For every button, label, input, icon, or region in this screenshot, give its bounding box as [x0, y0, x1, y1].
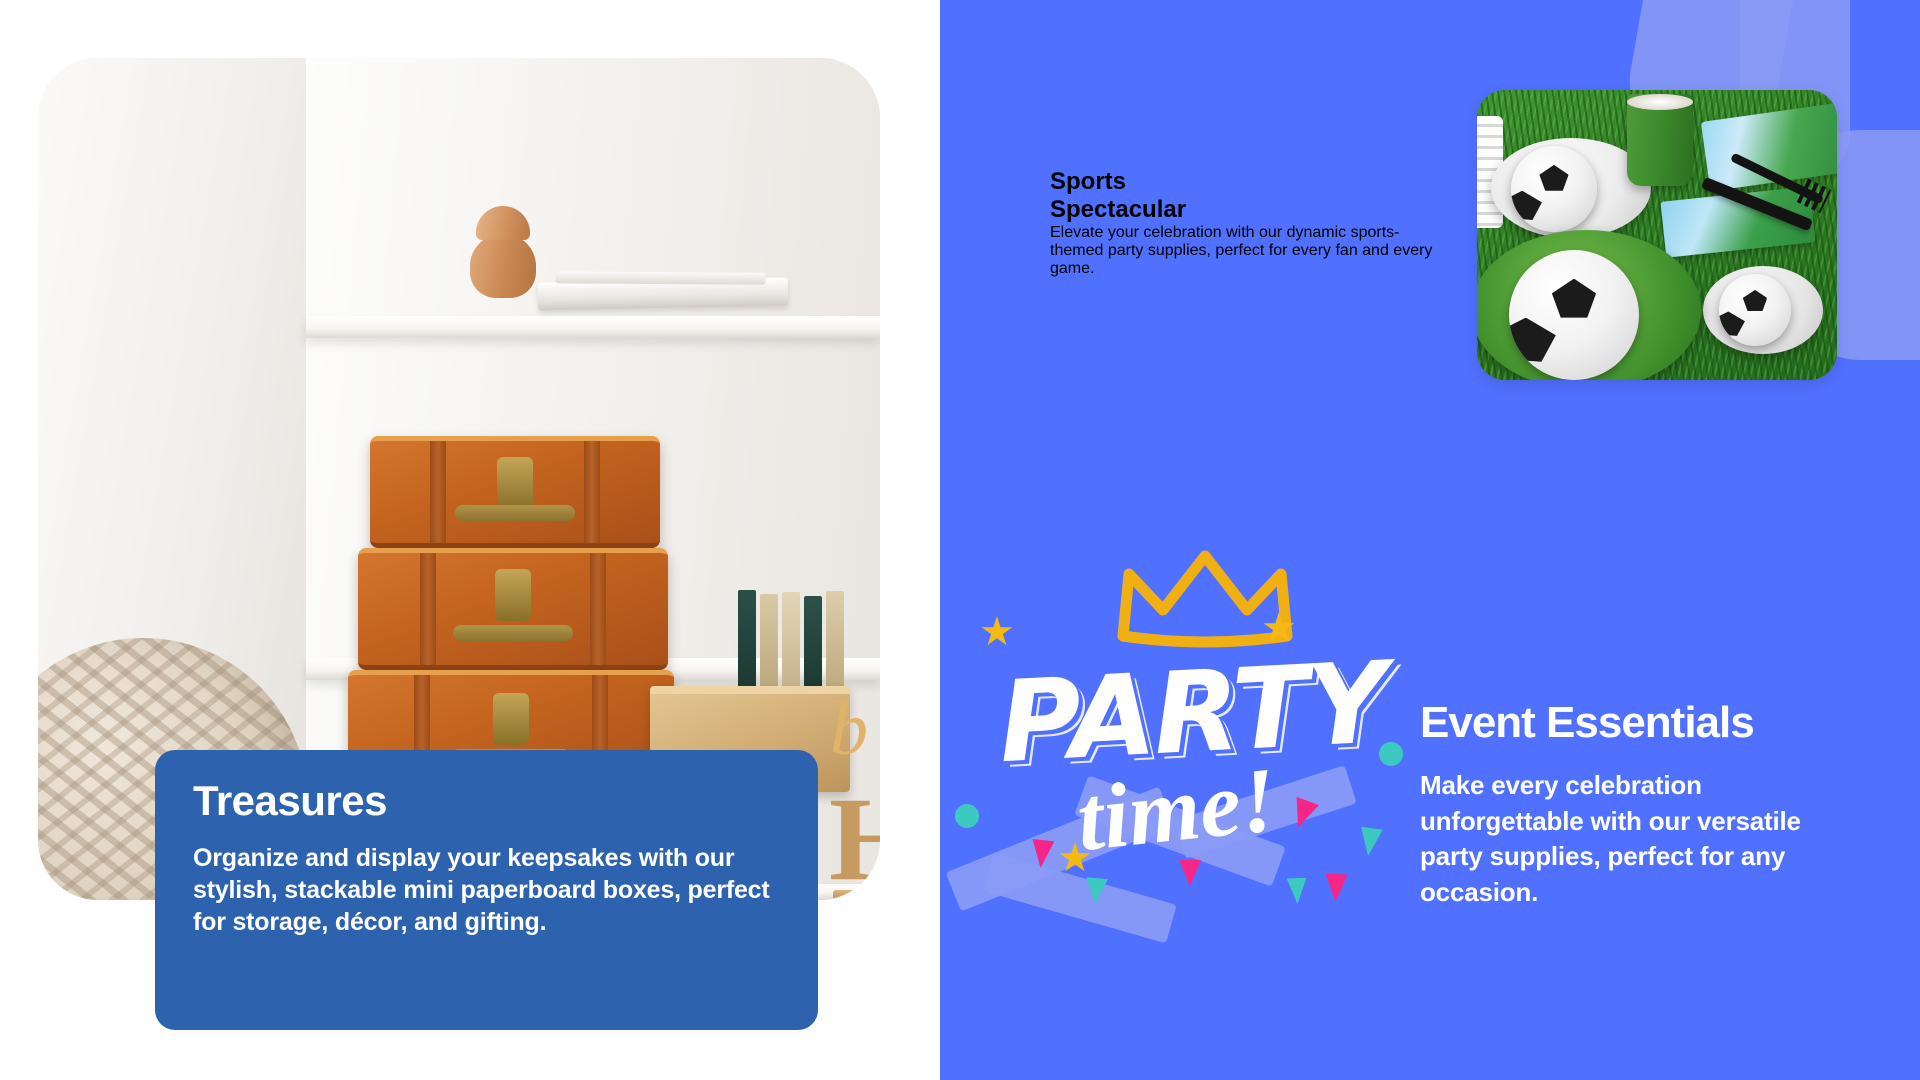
- sports-title-line1: Sports: [1050, 168, 1126, 195]
- sports-supplies-photo: [1477, 90, 1837, 380]
- photo-wooden-letters: HA: [833, 730, 880, 900]
- soccer-ball-icon: [1509, 250, 1639, 380]
- photo-storage-case: [370, 436, 660, 548]
- photo-paper-plate: [1477, 230, 1701, 380]
- confetti-star: ★: [1057, 838, 1093, 878]
- confetti-triangle: [1357, 827, 1383, 858]
- slide-canvas: b HA Treasures Organize and display your…: [0, 0, 1920, 1080]
- confetti-triangle: [1287, 878, 1308, 905]
- right-panel: Sports Spectacular Elevate your celebrat…: [940, 0, 1920, 1080]
- sports-text-block: Sports Spectacular Elevate your celebrat…: [1050, 168, 1450, 278]
- photo-paper-cup: [1627, 94, 1693, 186]
- event-text-block: Event Essentials Make every celebration …: [1420, 700, 1850, 911]
- event-body: Make every celebration unforgettable wit…: [1420, 768, 1850, 910]
- photo-magazines: [538, 277, 789, 310]
- photo-storage-case: [358, 548, 668, 670]
- confetti-dot: [1379, 742, 1403, 766]
- confetti-star: ★: [979, 612, 1015, 652]
- confetti-dot: [955, 804, 979, 828]
- photo-paper-plate: [1703, 266, 1823, 354]
- photo-wooden-pot: [470, 206, 536, 298]
- sports-title-line2: Spectacular: [1050, 196, 1186, 223]
- sports-title: Sports Spectacular: [1050, 168, 1450, 224]
- treasures-title: Treasures: [193, 780, 780, 822]
- party-time-logo: PARTY time! ★ ★ ★: [965, 560, 1445, 960]
- confetti-triangle: [1179, 860, 1201, 886]
- left-panel: b HA Treasures Organize and display your…: [0, 0, 940, 1080]
- treasures-body: Organize and display your keepsakes with…: [193, 842, 780, 938]
- time-word: time!: [1072, 746, 1281, 872]
- photo-shelf-board: [306, 316, 880, 338]
- event-title: Event Essentials: [1420, 700, 1850, 746]
- confetti-star: ★: [1261, 608, 1297, 648]
- treasures-card: Treasures Organize and display your keep…: [155, 750, 818, 1030]
- soccer-ball-icon: [1719, 274, 1791, 346]
- confetti-triangle: [1325, 874, 1348, 903]
- sports-body: Elevate your celebration with our dynami…: [1050, 224, 1450, 278]
- photo-books-upper: [738, 588, 868, 686]
- soccer-ball-icon: [1511, 146, 1597, 232]
